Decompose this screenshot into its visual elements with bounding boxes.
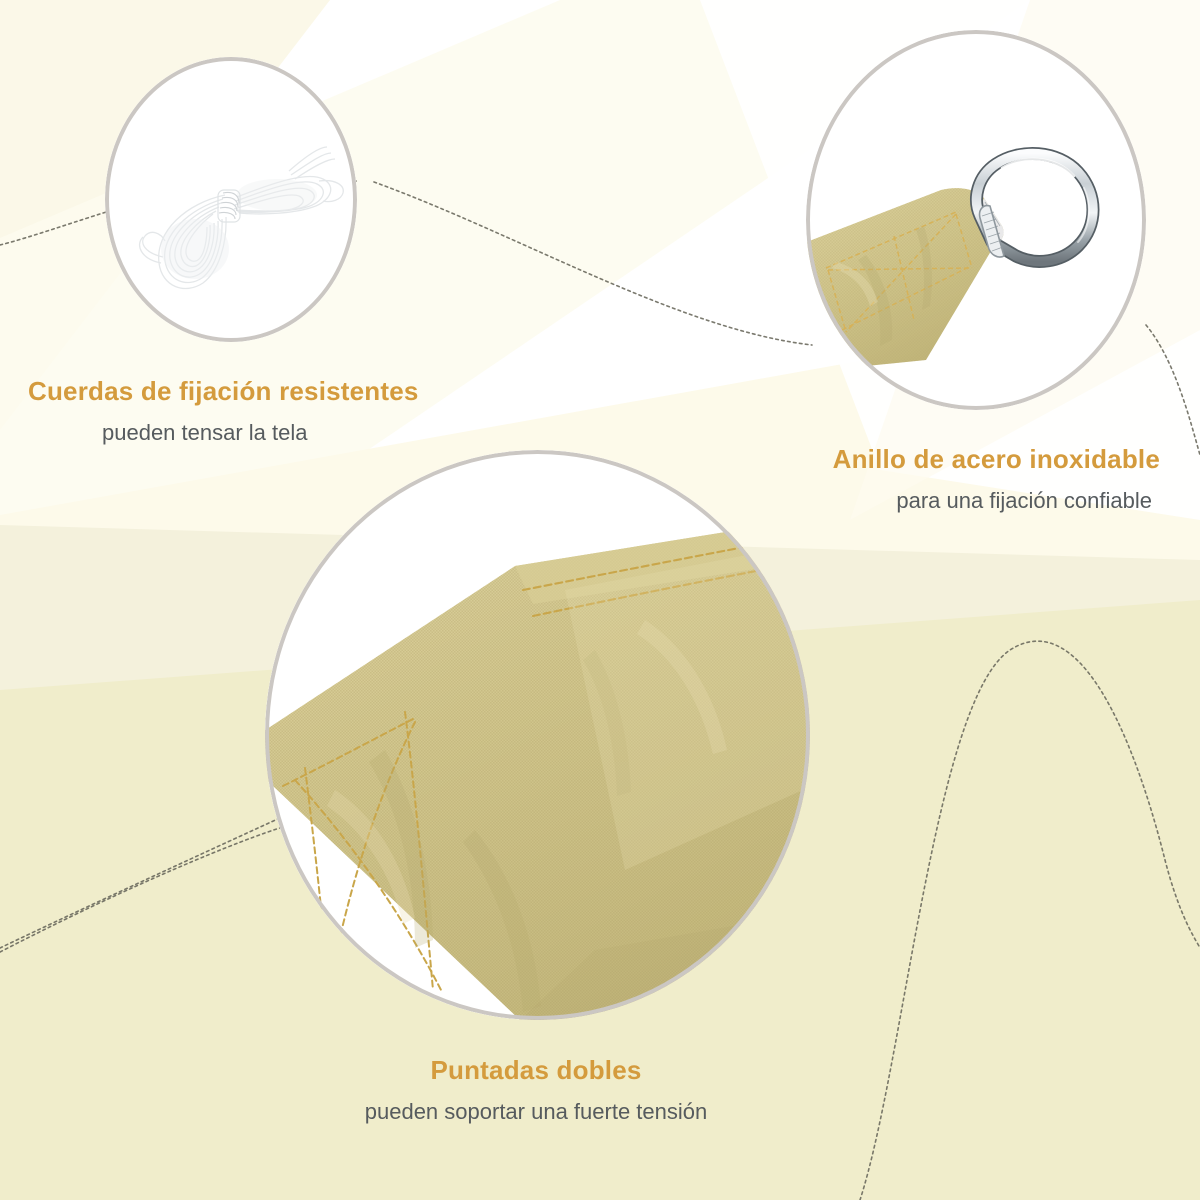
feature-subline-ring: para una fijación confiable [833,487,1152,516]
feature-headline-stitching: Puntadas dobles [365,1054,707,1087]
feature-headline-ropes: Cuerdas de fijación resistentes [28,375,419,408]
feature-text-stitching: Puntadas dobles pueden soportar una fuer… [365,1054,707,1126]
feature-headline-ring: Anillo de acero inoxidable [833,443,1160,476]
connector-ring-to-stitch [1146,325,1200,455]
double-stitch-photo [265,450,810,1020]
connector-right-arc [860,641,1200,1200]
connector-rope-to-ring-b [374,182,812,345]
connector-left-to-stitch-b [0,826,286,952]
feature-text-ring: Anillo de acero inoxidable para una fija… [833,443,1160,515]
d-ring-photo [806,30,1146,410]
feature-photo-stitching[interactable] [265,450,810,1020]
feature-text-ropes: Cuerdas de fijación resistentes pueden t… [28,375,419,447]
infographic-canvas: Cuerdas de fijación resistentes pueden t… [0,0,1200,1200]
feature-photo-ring[interactable] [806,30,1146,410]
feature-subline-ropes: pueden tensar la tela [102,419,419,448]
feature-photo-ropes[interactable] [105,57,357,342]
rope-coil-photo [105,57,357,342]
feature-subline-stitching: pueden soportar una fuerte tensión [365,1098,707,1127]
